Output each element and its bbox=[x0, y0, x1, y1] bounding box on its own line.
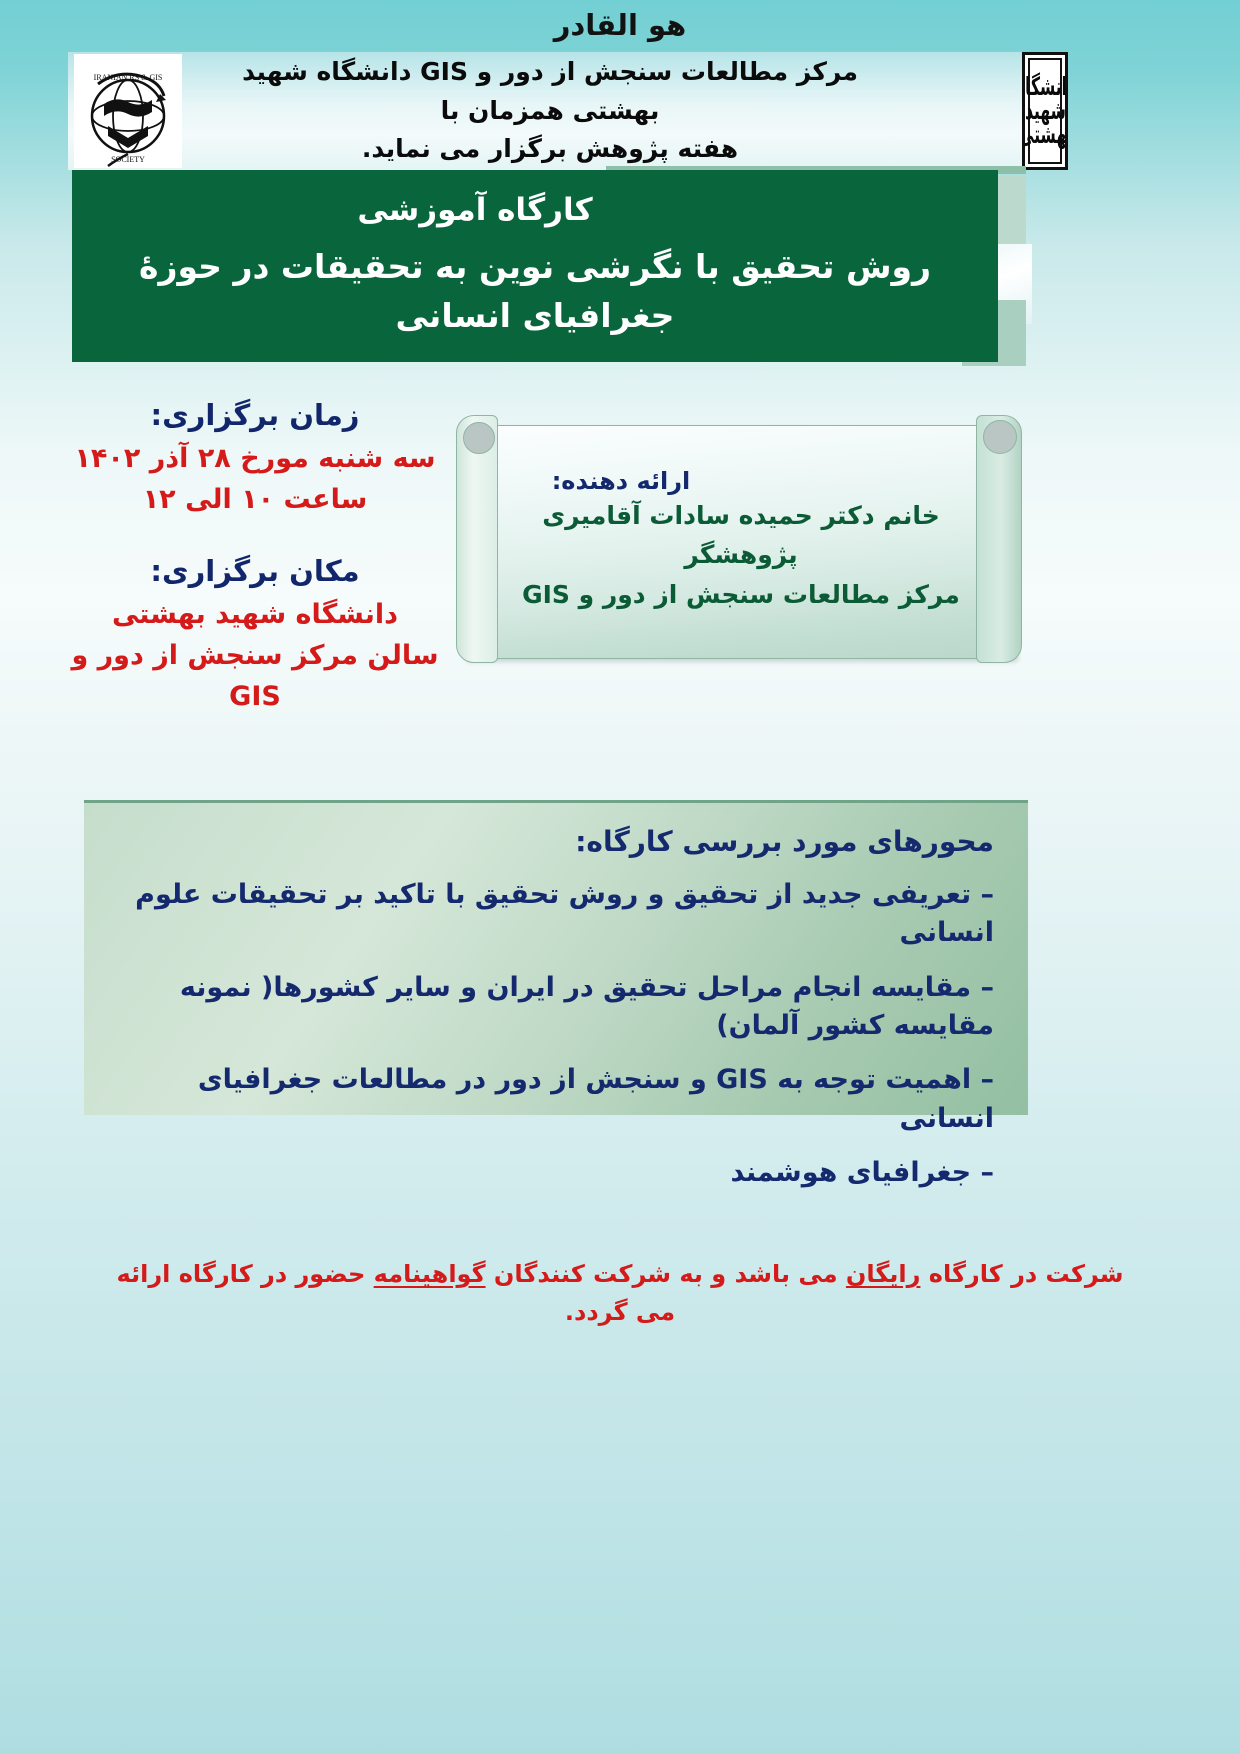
topics-box: محورهای مورد بررسی کارگاه: – تعریفی جدید… bbox=[84, 800, 1028, 1115]
presenter-scroll: ارائه دهنده: خانم دکتر حمیده سادات آقامی… bbox=[456, 415, 1022, 673]
scroll-knob-left-icon bbox=[463, 422, 495, 454]
footer-free-word: رایگان bbox=[846, 1260, 921, 1288]
scroll-knob-right-icon bbox=[983, 420, 1017, 454]
workshop-kicker: کارگاه آموزشی bbox=[357, 192, 712, 228]
header-announcement: مرکز مطالعات سنجش از دور و GIS دانشگاه ش… bbox=[190, 52, 910, 170]
shahid-beheshti-university-logo-icon: دانشگاه شهید بهشتی bbox=[1022, 52, 1068, 170]
svg-text:SOCIETY: SOCIETY bbox=[111, 155, 145, 164]
topic-item: – مقایسه انجام مراحل تحقیق در ایران و سا… bbox=[118, 969, 994, 1046]
topic-item: – جغرافیای هوشمند bbox=[118, 1154, 994, 1192]
footer-note: شرکت در کارگاه رایگان می باشد و به شرکت … bbox=[110, 1255, 1130, 1332]
rs-gis-society-logo-icon: IRANIAN RS & GIS SOCIETY bbox=[74, 54, 182, 168]
scroll-roll-left bbox=[456, 415, 498, 663]
logo-frame: دانشگاه شهید بهشتی bbox=[1028, 58, 1062, 164]
footer-part-1: شرکت در کارگاه bbox=[920, 1260, 1123, 1288]
logo-text-line-3: بهشتی bbox=[1022, 123, 1068, 147]
header-line-1: مرکز مطالعات سنجش از دور و GIS دانشگاه ش… bbox=[196, 53, 904, 131]
event-details: زمان برگزاری: سه شنبه مورخ ۲۸ آذر ۱۴۰۲ س… bbox=[60, 398, 450, 717]
workshop-title: روش تحقیق با نگرشی نوین به تحقیقات در حو… bbox=[72, 242, 998, 341]
header-line-2: هفته پژوهش برگزار می نماید. bbox=[362, 130, 738, 169]
footer-certificate-word: گواهینامه bbox=[374, 1260, 486, 1288]
time-label: زمان برگزاری: bbox=[60, 398, 450, 432]
time-hours: ساعت ۱۰ الی ۱۲ bbox=[60, 479, 450, 520]
svg-text:IRANIAN RS & GIS: IRANIAN RS & GIS bbox=[94, 73, 163, 82]
place-line-1: دانشگاه شهید بهشتی bbox=[60, 594, 450, 635]
topic-item: – اهمیت توجه به GIS و سنجش از دور در مطا… bbox=[118, 1061, 994, 1138]
place-line-2: سالن مرکز سنجش از دور و GIS bbox=[60, 635, 450, 717]
presenter-info: ارائه دهنده: خانم دکتر حمیده سادات آقامی… bbox=[502, 467, 980, 615]
time-date: سه شنبه مورخ ۲۸ آذر ۱۴۰۲ bbox=[60, 438, 450, 479]
topics-title: محورهای مورد بررسی کارگاه: bbox=[118, 825, 994, 858]
workshop-title-block: کارگاه آموزشی روش تحقیق با نگرشی نوین به… bbox=[72, 170, 998, 362]
footer-part-2: می باشد و به شرکت کنندگان bbox=[486, 1260, 846, 1288]
presenter-label: ارائه دهنده: bbox=[502, 467, 980, 495]
invocation-text: هو القادر bbox=[0, 8, 1240, 42]
scroll-roll-right bbox=[976, 415, 1022, 663]
presenter-role: پژوهشگر bbox=[502, 535, 980, 575]
topic-item: – تعریفی جدید از تحقیق و روش تحقیق با تا… bbox=[118, 876, 994, 953]
presenter-affiliation: مرکز مطالعات سنجش از دور و GIS bbox=[502, 575, 980, 615]
poster-root: هو القادر مرکز مطالعات سنجش از دور و GIS… bbox=[0, 0, 1240, 1754]
logo-calligraphy: دانشگاه شهید بهشتی bbox=[1022, 75, 1068, 147]
place-label: مکان برگزاری: bbox=[60, 554, 450, 588]
presenter-name: خانم دکتر حمیده سادات آقامیری bbox=[502, 497, 980, 535]
